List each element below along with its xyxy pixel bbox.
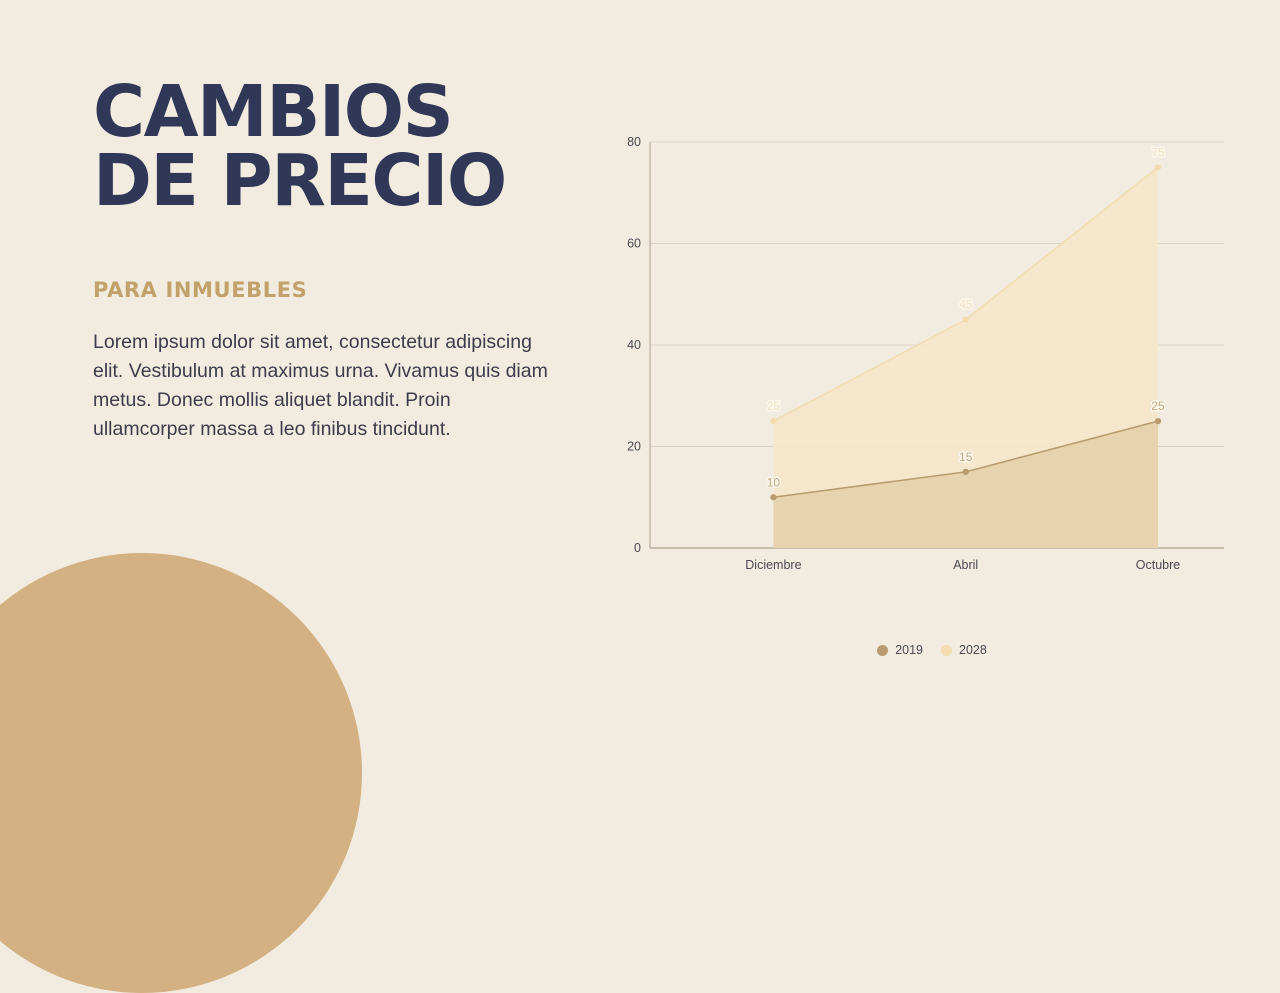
- data-label-2028-Abril: 45: [959, 298, 973, 312]
- data-point-2028-Octubre[interactable]: [1155, 164, 1161, 170]
- x-tick-label-Diciembre: Diciembre: [745, 558, 801, 572]
- data-label-2028-Octubre: 75: [1151, 145, 1165, 159]
- y-tick-label: 40: [627, 338, 641, 352]
- decorative-circle: [0, 553, 362, 993]
- x-tick-label-Octubre: Octubre: [1136, 558, 1181, 572]
- data-point-2019-Octubre[interactable]: [1155, 418, 1161, 424]
- y-tick-label: 60: [627, 237, 641, 251]
- data-label-2019-Diciembre: 10: [767, 475, 781, 489]
- chart-legend: 20192028: [612, 643, 1252, 657]
- data-label-2019-Abril: 15: [959, 450, 973, 464]
- legend-dot-icon: [941, 645, 952, 656]
- data-label-2019-Octubre: 25: [1151, 399, 1165, 413]
- left-content-column: CAMBIOS DE PRECIO PARA INMUEBLES Lorem i…: [93, 78, 563, 444]
- y-tick-label: 80: [627, 135, 641, 149]
- subtitle: PARA INMUEBLES: [93, 278, 563, 302]
- data-point-2019-Diciembre[interactable]: [770, 494, 776, 500]
- legend-dot-icon: [877, 645, 888, 656]
- chart-svg: 020406080101525254575DiciembreAbrilOctub…: [612, 120, 1252, 620]
- area-chart: 020406080101525254575DiciembreAbrilOctub…: [612, 120, 1252, 680]
- data-point-2028-Abril[interactable]: [963, 317, 969, 323]
- body-paragraph: Lorem ipsum dolor sit amet, consectetur …: [93, 328, 548, 444]
- legend-item-2028[interactable]: 2028: [941, 643, 987, 657]
- y-tick-label: 0: [634, 541, 641, 555]
- legend-label: 2028: [959, 643, 987, 657]
- data-point-2028-Diciembre[interactable]: [770, 418, 776, 424]
- data-point-2019-Abril[interactable]: [963, 469, 969, 475]
- y-tick-label: 20: [627, 440, 641, 454]
- legend-label: 2019: [895, 643, 923, 657]
- legend-item-2019[interactable]: 2019: [877, 643, 923, 657]
- data-label-2028-Diciembre: 25: [767, 399, 781, 413]
- x-tick-label-Abril: Abril: [953, 558, 978, 572]
- page-title: CAMBIOS DE PRECIO: [93, 78, 563, 216]
